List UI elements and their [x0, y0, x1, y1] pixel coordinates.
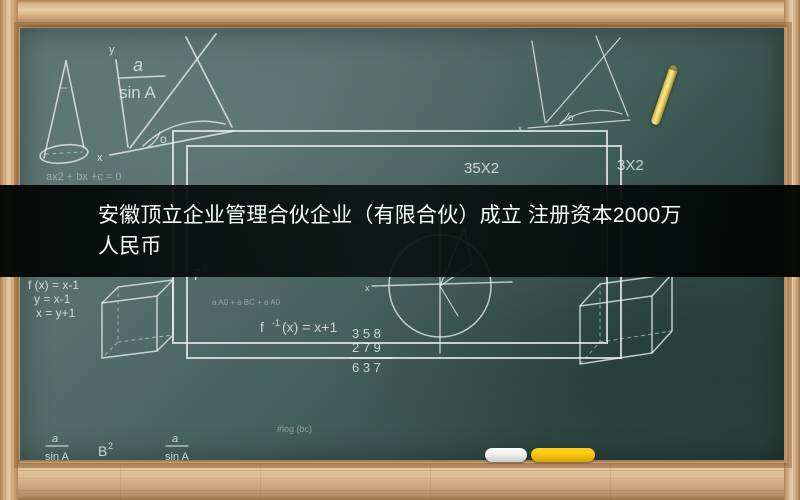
svg-text:6 3 7: 6 3 7: [352, 360, 381, 375]
fraction-a-over-sinA-lower-2: a sin A: [165, 433, 190, 460]
svg-text:sin A: sin A: [165, 451, 190, 460]
cone-drawing: [39, 61, 89, 165]
svg-text:sin A: sin A: [45, 451, 70, 460]
cube-wireframe-left: [102, 280, 173, 358]
function-equations: f (x) = x-1 y = x-1 x = y+1: [28, 278, 79, 320]
svg-text:y = x-1: y = x-1: [34, 292, 71, 306]
svg-text:f (x) = x-1: f (x) = x-1: [28, 278, 79, 292]
angle-diagram-right: o x: [518, 36, 630, 133]
svg-text:a: a: [133, 55, 143, 75]
log-bc-label: #log (bc): [277, 424, 312, 434]
fraction-a-over-sinA-topleft: a sin A: [119, 55, 165, 102]
fraction-a-over-sinA-lower-1: a sin A: [45, 433, 70, 460]
quadratic-equation: ax2 + bx +c = 0: [46, 171, 122, 183]
svg-text:y: y: [109, 44, 115, 56]
yellow-chalk: [531, 448, 595, 462]
caption-text-container: 安徽顶立企业管理合伙企业（有限合伙）成立 注册资本2000万人民币: [0, 185, 800, 277]
svg-text:B: B: [98, 443, 107, 459]
svg-text:x: x: [97, 152, 103, 164]
caption-headline: 安徽顶立企业管理合伙企业（有限合伙）成立 注册资本2000万人民币: [98, 200, 702, 262]
white-chalk: [485, 448, 527, 462]
svg-text:o: o: [568, 113, 574, 124]
svg-text:x = y+1: x = y+1: [36, 306, 76, 320]
chalkboard-banner: a sin A ax2 + bx +c = 0 y x o f (x) = x: [0, 0, 800, 500]
svg-text:a: a: [52, 433, 58, 445]
b-squared: B 2: [98, 441, 113, 459]
svg-text:a: a: [172, 433, 178, 445]
svg-text:o: o: [160, 132, 167, 146]
svg-text:sin A: sin A: [119, 83, 157, 102]
svg-text:2: 2: [108, 441, 113, 451]
